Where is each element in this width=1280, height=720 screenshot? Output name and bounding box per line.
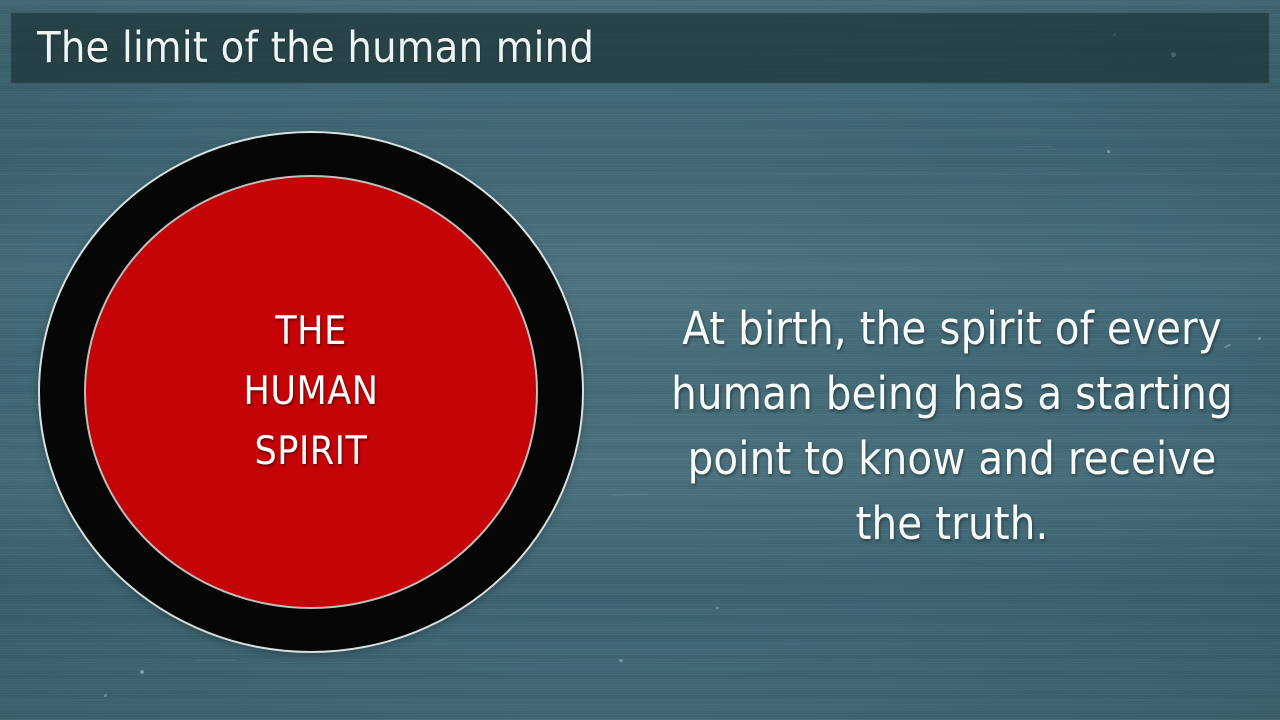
page-title: The limit of the human mind bbox=[37, 19, 1137, 77]
circle-label-line-1: THE bbox=[86, 302, 536, 362]
circle-label-line-2: HUMAN bbox=[86, 362, 536, 422]
circle-inner-disc: THE HUMAN SPIRIT bbox=[86, 177, 536, 607]
circle-label: THE HUMAN SPIRIT bbox=[86, 302, 536, 482]
human-spirit-circle-diagram: THE HUMAN SPIRIT bbox=[40, 133, 582, 651]
presentation-slide: The limit of the human mind THE HUMAN SP… bbox=[0, 0, 1280, 720]
circle-outer-ring: THE HUMAN SPIRIT bbox=[40, 133, 582, 651]
circle-label-line-3: SPIRIT bbox=[86, 422, 536, 482]
body-statement: At birth, the spirit of every human bein… bbox=[648, 296, 1256, 556]
